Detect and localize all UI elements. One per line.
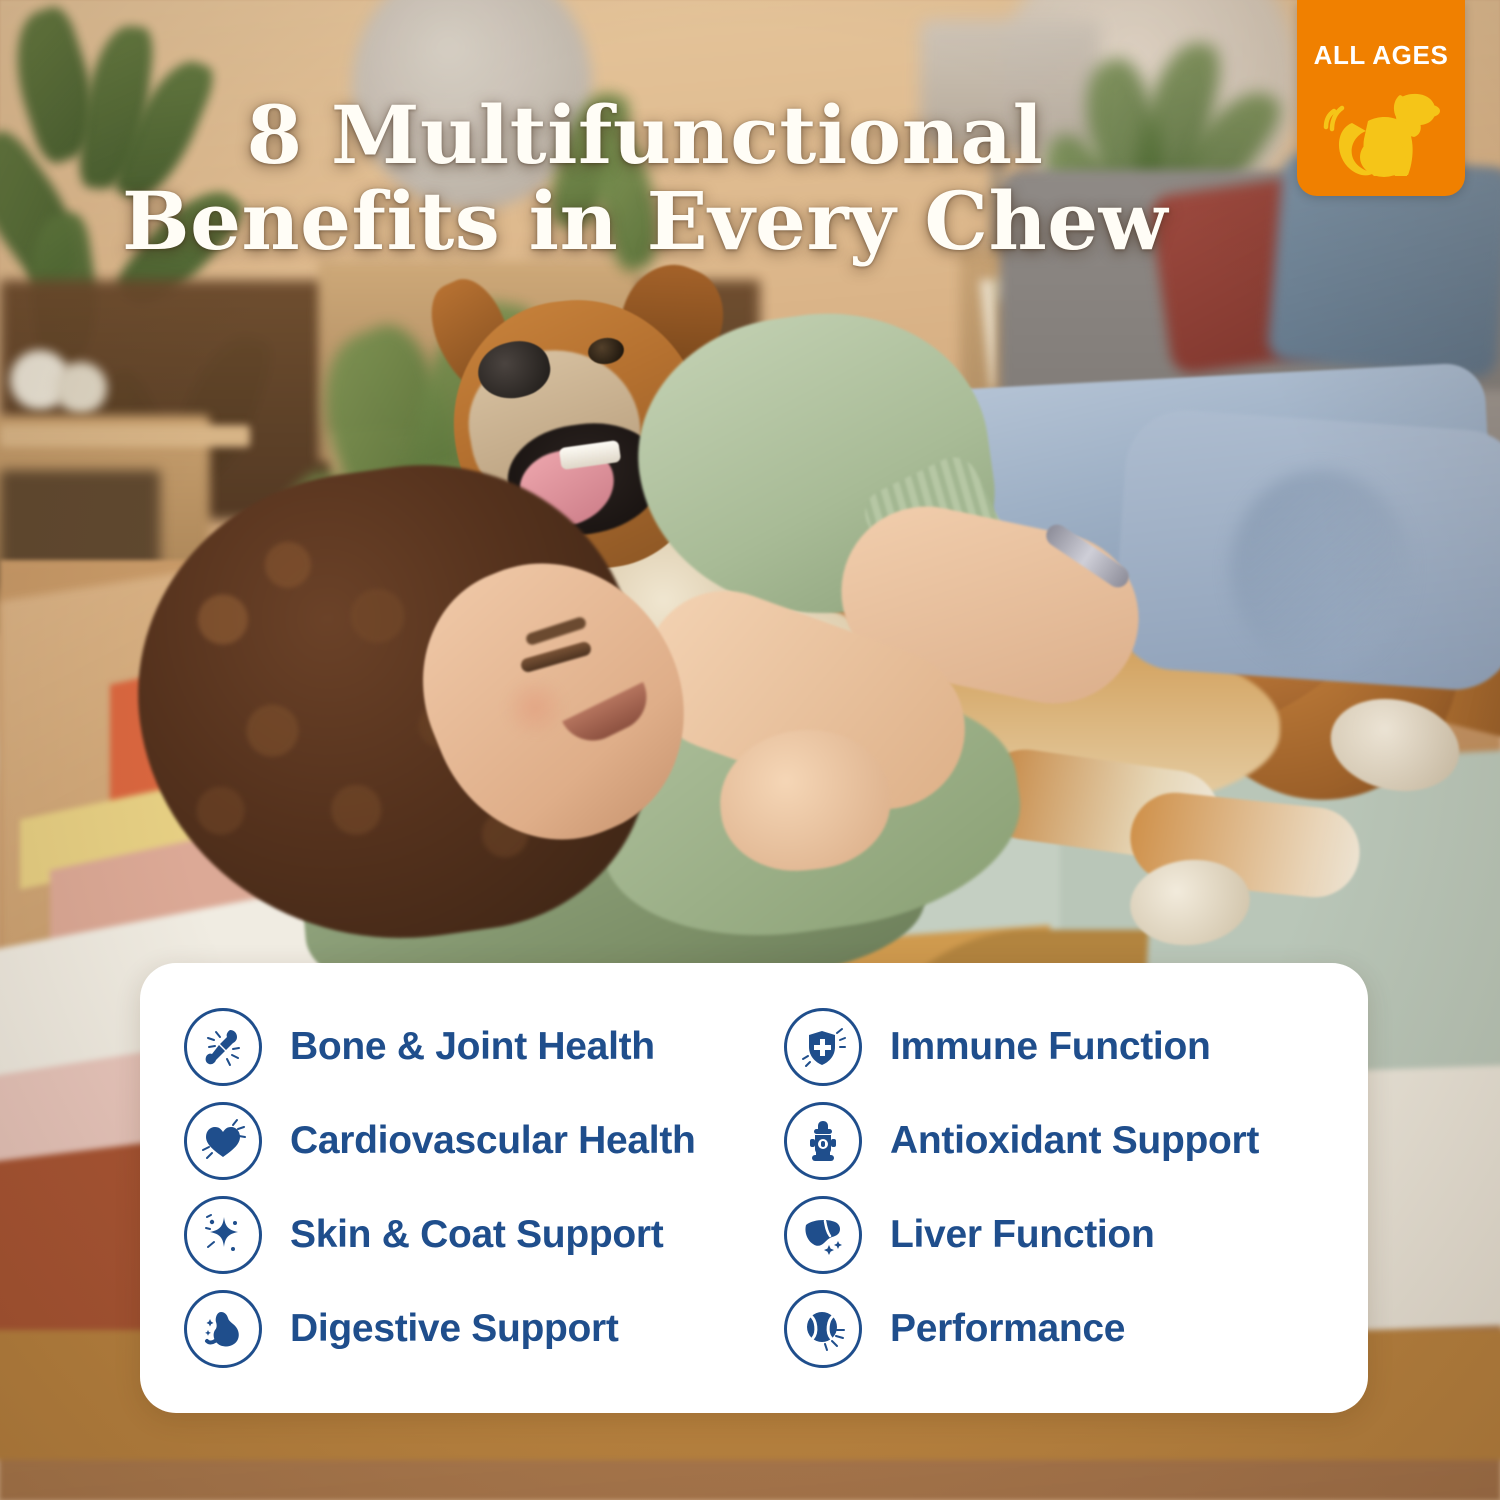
page-title: 8 Multifunctional Benefits in Every Chew bbox=[0, 92, 1290, 265]
benefit-item-liver-function: Liver Function bbox=[784, 1188, 1368, 1282]
benefits-grid: Bone & Joint Health bbox=[140, 978, 1368, 1398]
liver-icon bbox=[784, 1196, 862, 1274]
benefit-label: Bone & Joint Health bbox=[290, 1025, 655, 1069]
benefit-label: Skin & Coat Support bbox=[290, 1213, 663, 1257]
benefit-label: Cardiovascular Health bbox=[290, 1119, 696, 1163]
decor-ball bbox=[55, 362, 107, 414]
benefit-item-cardiovascular-health: Cardiovascular Health bbox=[184, 1094, 784, 1188]
benefits-panel: Bone & Joint Health bbox=[140, 963, 1368, 1413]
stomach-icon bbox=[184, 1290, 262, 1368]
bone-joint-icon bbox=[184, 1008, 262, 1086]
benefit-item-skin-coat-support: Skin & Coat Support bbox=[184, 1188, 784, 1282]
benefit-item-digestive-support: Digestive Support bbox=[184, 1282, 784, 1376]
jeans-fold bbox=[1230, 470, 1410, 670]
all-ages-badge-label: ALL AGES bbox=[1314, 40, 1449, 71]
cheek-blush bbox=[500, 680, 570, 735]
benefit-label: Liver Function bbox=[890, 1213, 1154, 1257]
product-marketing-image: 8 Multifunctional Benefits in Every Chew… bbox=[0, 0, 1500, 1500]
all-ages-badge: ALL AGES bbox=[1297, 0, 1465, 196]
tennis-ball-icon bbox=[784, 1290, 862, 1368]
shield-plus-icon bbox=[784, 1008, 862, 1086]
sparkle-star-icon bbox=[184, 1196, 262, 1274]
benefit-item-bone-joint-health: Bone & Joint Health bbox=[184, 1000, 784, 1094]
benefit-label: Digestive Support bbox=[290, 1307, 619, 1351]
benefit-label: Immune Function bbox=[890, 1025, 1211, 1069]
benefit-item-immune-function: Immune Function bbox=[784, 1000, 1368, 1094]
benefit-item-antioxidant-support: Antioxidant Support bbox=[784, 1094, 1368, 1188]
table-top bbox=[0, 425, 250, 447]
benefit-item-performance: Performance bbox=[784, 1282, 1368, 1376]
fire-hydrant-icon bbox=[784, 1102, 862, 1180]
sitting-dog-icon bbox=[1322, 77, 1440, 188]
benefit-label: Antioxidant Support bbox=[890, 1119, 1259, 1163]
benefit-label: Performance bbox=[890, 1307, 1125, 1351]
heart-icon bbox=[184, 1102, 262, 1180]
